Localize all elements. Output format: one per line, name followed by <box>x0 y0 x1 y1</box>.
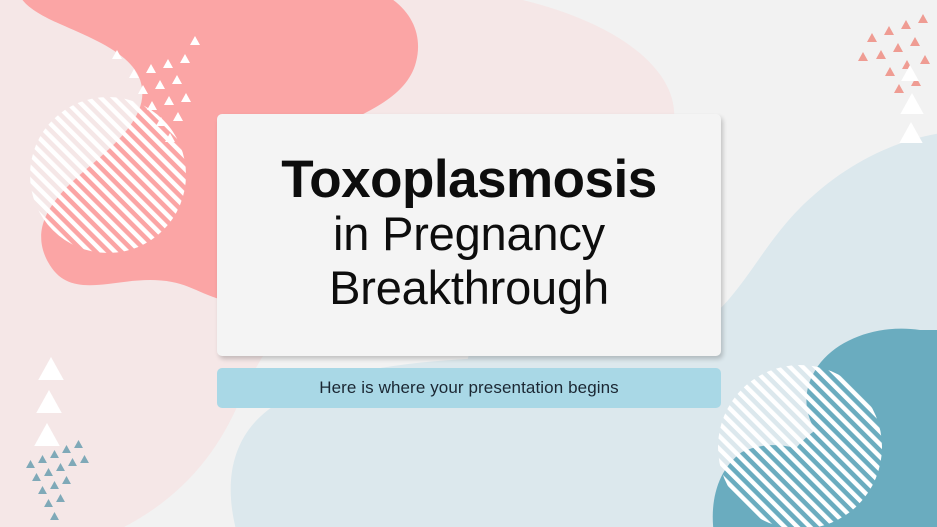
teal-blob-bottom-right-lower <box>752 420 937 527</box>
striped-circle-bottom-right <box>700 350 900 527</box>
triangle-cluster-top-left <box>112 36 200 142</box>
triangle-cluster-top-right <box>858 14 930 143</box>
subtitle-text: Here is where your presentation begins <box>319 378 619 398</box>
subtitle-band: Here is where your presentation begins <box>217 368 721 408</box>
teal-blob-bottom-right-tail <box>713 445 848 527</box>
triangle-cluster-bottom-left <box>26 357 89 520</box>
title-card: Toxoplasmosis in Pregnancy Breakthrough <box>217 114 721 356</box>
presentation-slide: Toxoplasmosis in Pregnancy Breakthrough … <box>0 0 937 527</box>
teal-blob-bottom-right <box>806 329 937 527</box>
page-title-line-2: in Pregnancy <box>333 207 605 260</box>
page-title-line-3: Breakthrough <box>329 261 609 314</box>
page-title-line-1: Toxoplasmosis <box>281 152 656 207</box>
striped-circle-top-left <box>20 85 200 265</box>
